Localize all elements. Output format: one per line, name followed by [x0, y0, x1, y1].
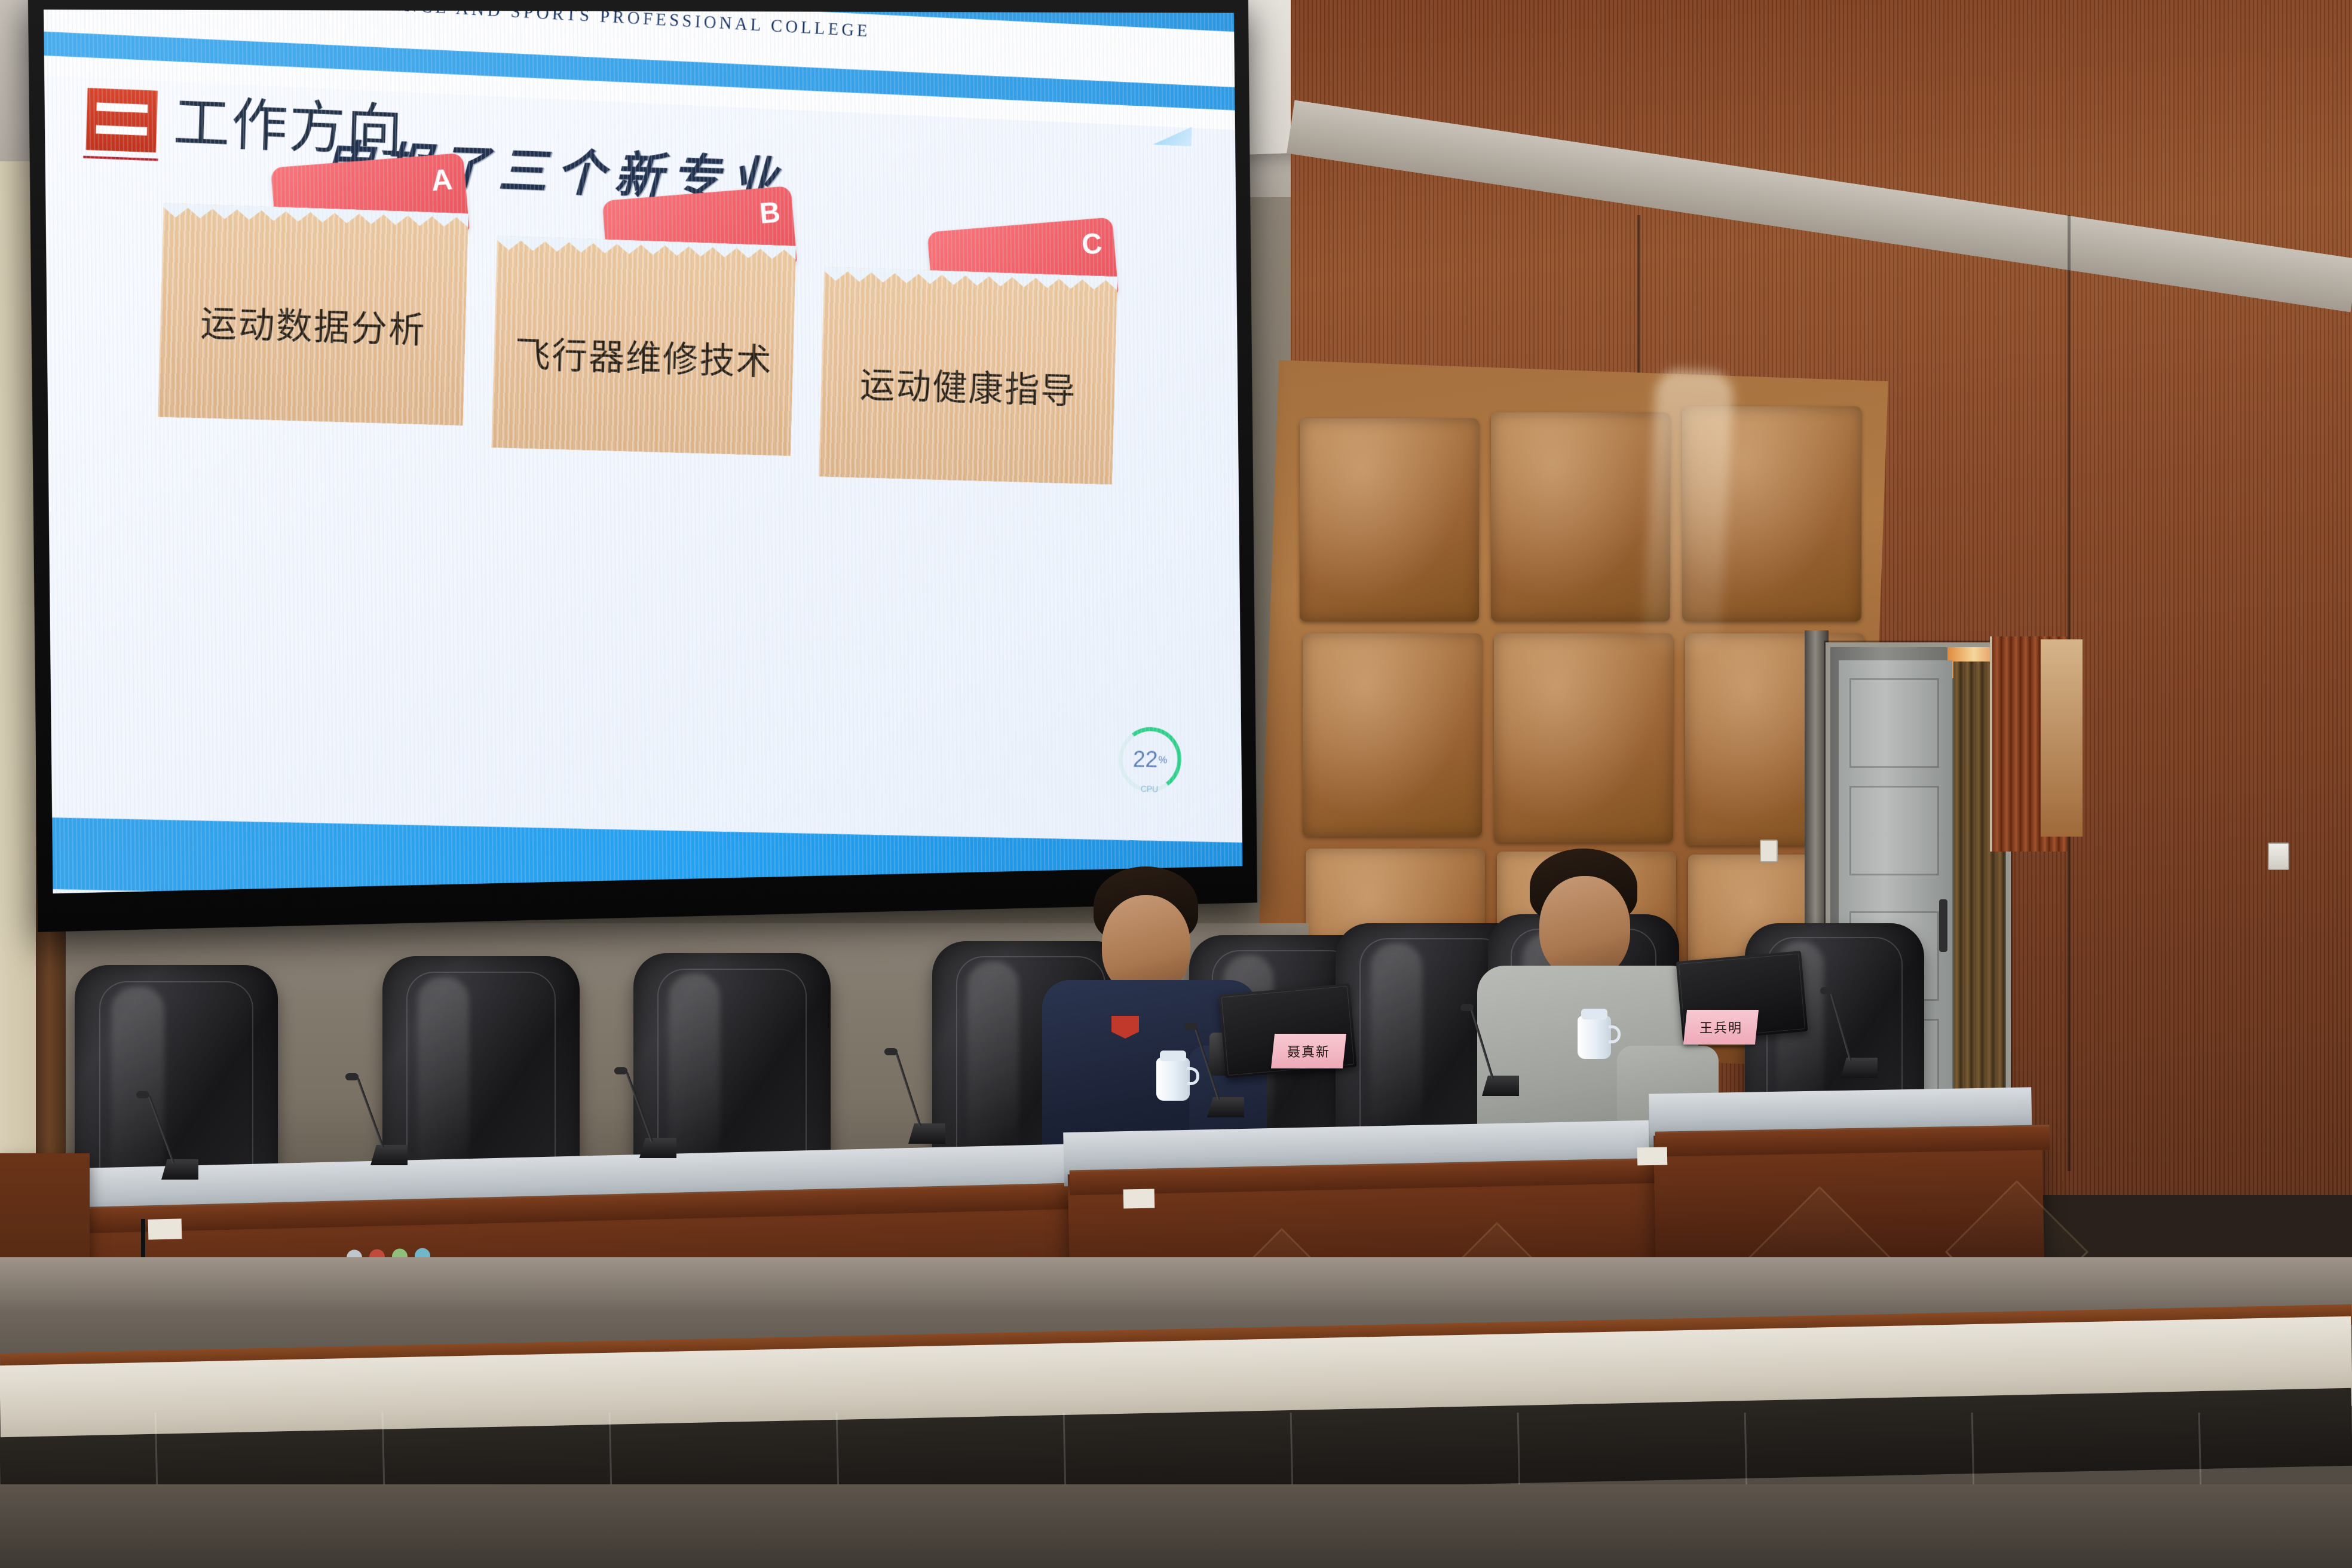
nameplate-text: 王兵明: [1699, 1018, 1742, 1037]
icon-bar-top: [97, 103, 148, 113]
desk-label-tag: [1123, 1189, 1155, 1208]
acoustic-pad: [1303, 633, 1482, 837]
card-body-c: 运动健康指导: [819, 267, 1117, 485]
card-baseline2-c: [814, 491, 1119, 500]
nameplate: 王兵明: [1683, 1010, 1759, 1045]
mic-head: [345, 1073, 359, 1080]
cup-lid: [1160, 1051, 1186, 1061]
chair-highlight: [418, 977, 469, 1187]
slide-corner-decoration: [1153, 125, 1192, 146]
desk-label-tag: [1637, 1147, 1668, 1166]
acoustic-pad: [1300, 418, 1479, 621]
right-wall-highlight: [2041, 639, 2082, 837]
desk-microphone-icon[interactable]: [639, 1138, 676, 1158]
nameplate: 聂真新: [1271, 1034, 1346, 1068]
dial-value-row: 22%: [1118, 727, 1182, 792]
major-card-c[interactable]: C 运动健康指导: [819, 252, 1118, 487]
acoustic-pad: [1494, 633, 1673, 843]
card-baseline-b: [488, 454, 798, 464]
card-baseline2-b: [488, 462, 798, 471]
person-head: [1539, 876, 1630, 979]
nameplate-text: 聂真新: [1287, 1042, 1330, 1061]
mic-head: [1460, 1004, 1474, 1011]
projection-screen: ✦ 云南体育运动职业技术学院 YUNNAN PHYSICAL SCIENCE A…: [28, 0, 1257, 932]
door-panel: [1849, 786, 1939, 875]
door-handle-icon[interactable]: [1939, 899, 1947, 952]
light-switch-icon[interactable]: [2268, 843, 2289, 870]
card-body-b: 飞行器维修技术: [491, 235, 796, 456]
major-card-a[interactable]: A 运动数据分析: [158, 187, 469, 428]
major-card-b[interactable]: B 飞行器维修技术: [491, 220, 797, 459]
acoustic-pad: [1491, 412, 1670, 621]
conference-room-photo: ✦ 云南体育运动职业技术学院 YUNNAN PHYSICAL SCIENCE A…: [0, 0, 2352, 1568]
card-baseline2-a: [154, 431, 470, 441]
chair-highlight: [967, 961, 1019, 1162]
card-baseline-c: [815, 483, 1120, 493]
desk-microphone-icon[interactable]: [1482, 1076, 1519, 1096]
desk-microphone-icon[interactable]: [370, 1145, 408, 1165]
cup-lid: [1581, 1009, 1607, 1019]
mic-head: [614, 1067, 627, 1074]
card-letter-b: B: [758, 197, 782, 228]
desk-microphone-icon[interactable]: [1840, 1058, 1878, 1078]
card-letter-a: A: [430, 164, 454, 195]
foreground-floor: [0, 1484, 2352, 1568]
card-label-b: 飞行器维修技术: [493, 324, 794, 386]
card-letter-c: C: [1080, 228, 1103, 259]
mic-head: [1184, 1023, 1198, 1030]
desk-microphone-icon[interactable]: [1207, 1097, 1244, 1117]
mic-head: [884, 1048, 898, 1055]
mic-head: [136, 1091, 149, 1098]
dial-sublabel: CPU: [1118, 784, 1181, 795]
dial-value: 22: [1132, 746, 1158, 773]
door-panel: [1849, 678, 1939, 768]
card-label-a: 运动数据分析: [160, 292, 466, 355]
progress-dial: 22% CPU: [1118, 727, 1182, 792]
red-equals-bars-icon: [86, 88, 158, 152]
acoustic-pad-highlight: [1642, 369, 1734, 653]
tea-cup-icon[interactable]: [1156, 1058, 1190, 1101]
desk-microphone-icon[interactable]: [908, 1123, 945, 1144]
chair-highlight: [669, 973, 720, 1179]
card-row: A 运动数据分析 B 飞行器维修技术: [79, 185, 1225, 490]
icon-bar-bottom: [96, 125, 147, 135]
presentation-slide: ✦ 云南体育运动职业技术学院 YUNNAN PHYSICAL SCIENCE A…: [44, 10, 1242, 893]
icon-underline: [83, 156, 158, 161]
card-body-a: 运动数据分析: [158, 203, 468, 425]
desk-microphone-icon[interactable]: [161, 1159, 198, 1180]
wall-outlet-icon: [1760, 840, 1778, 862]
chair-highlight: [1371, 943, 1422, 1139]
dial-unit: %: [1158, 754, 1167, 766]
tea-cup-icon[interactable]: [1578, 1016, 1611, 1059]
mic-head: [1820, 987, 1833, 994]
card-label-c: 运动健康指导: [820, 354, 1115, 415]
card-baseline-a: [154, 423, 471, 434]
